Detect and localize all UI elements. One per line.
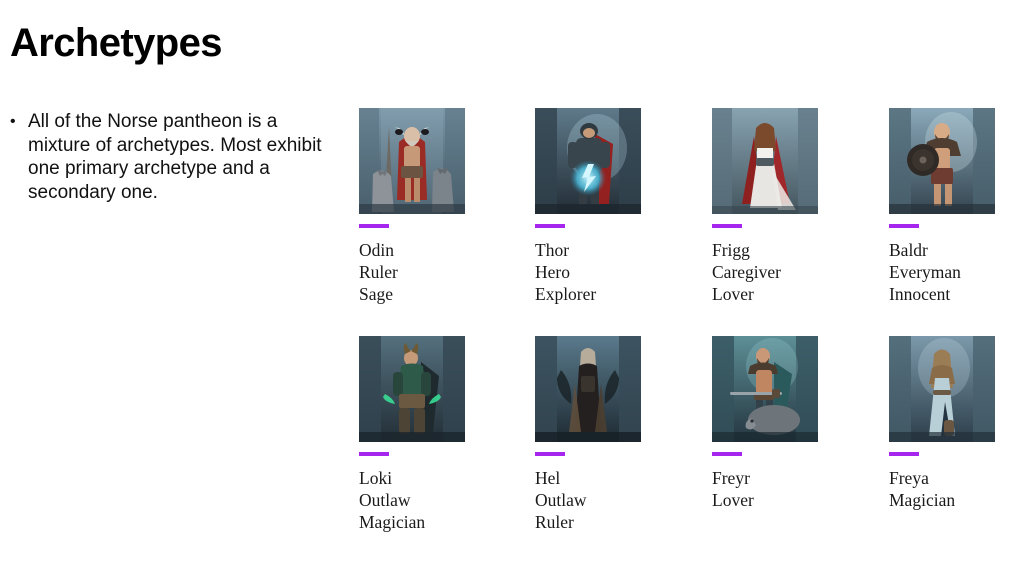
- accent-bar: [535, 452, 565, 456]
- card-row: Odin Ruler Sage: [359, 108, 999, 336]
- baldr-illustration: [889, 108, 995, 214]
- accent-bar: [889, 452, 919, 456]
- thor-illustration: [535, 108, 641, 214]
- accent-bar: [889, 224, 919, 228]
- card-caption: Loki Outlaw Magician: [359, 467, 465, 533]
- slide-canvas: Archetypes • All of the Norse pantheon i…: [0, 0, 1024, 574]
- archetype-card-thor[interactable]: Thor Hero Explorer: [535, 108, 641, 305]
- hel-illustration: [535, 336, 641, 442]
- accent-bar: [712, 452, 742, 456]
- bullet-text: All of the Norse pantheon is a mixture o…: [28, 110, 340, 204]
- archetype-card-odin[interactable]: Odin Ruler Sage: [359, 108, 465, 305]
- card-row: Loki Outlaw Magician: [359, 336, 999, 564]
- card-caption: Baldr Everyman Innocent: [889, 239, 995, 305]
- accent-bar: [359, 452, 389, 456]
- archetype-card-baldr[interactable]: Baldr Everyman Innocent: [889, 108, 995, 305]
- card-caption: Frigg Caregiver Lover: [712, 239, 818, 305]
- frigg-illustration: [712, 108, 818, 214]
- archetype-card-freyr[interactable]: Freyr Lover: [712, 336, 818, 511]
- accent-bar: [535, 224, 565, 228]
- card-caption: Thor Hero Explorer: [535, 239, 641, 305]
- archetype-card-frigg[interactable]: Frigg Caregiver Lover: [712, 108, 818, 305]
- card-caption: Hel Outlaw Ruler: [535, 467, 641, 533]
- page-title: Archetypes: [10, 20, 222, 66]
- freya-illustration: [889, 336, 995, 442]
- archetype-card-hel[interactable]: Hel Outlaw Ruler: [535, 336, 641, 533]
- archetype-card-freya[interactable]: Freya Magician: [889, 336, 995, 511]
- archetype-card-grid: Odin Ruler Sage: [359, 108, 999, 564]
- loki-illustration: [359, 336, 465, 442]
- odin-illustration: [359, 108, 465, 214]
- card-caption: Freyr Lover: [712, 467, 818, 511]
- accent-bar: [712, 224, 742, 228]
- list-item: • All of the Norse pantheon is a mixture…: [10, 110, 340, 204]
- card-caption: Freya Magician: [889, 467, 995, 511]
- archetype-card-loki[interactable]: Loki Outlaw Magician: [359, 336, 465, 533]
- card-caption: Odin Ruler Sage: [359, 239, 465, 305]
- accent-bar: [359, 224, 389, 228]
- freyr-illustration: [712, 336, 818, 442]
- bullet-list: • All of the Norse pantheon is a mixture…: [10, 110, 340, 204]
- bullet-point-icon: •: [10, 110, 28, 134]
